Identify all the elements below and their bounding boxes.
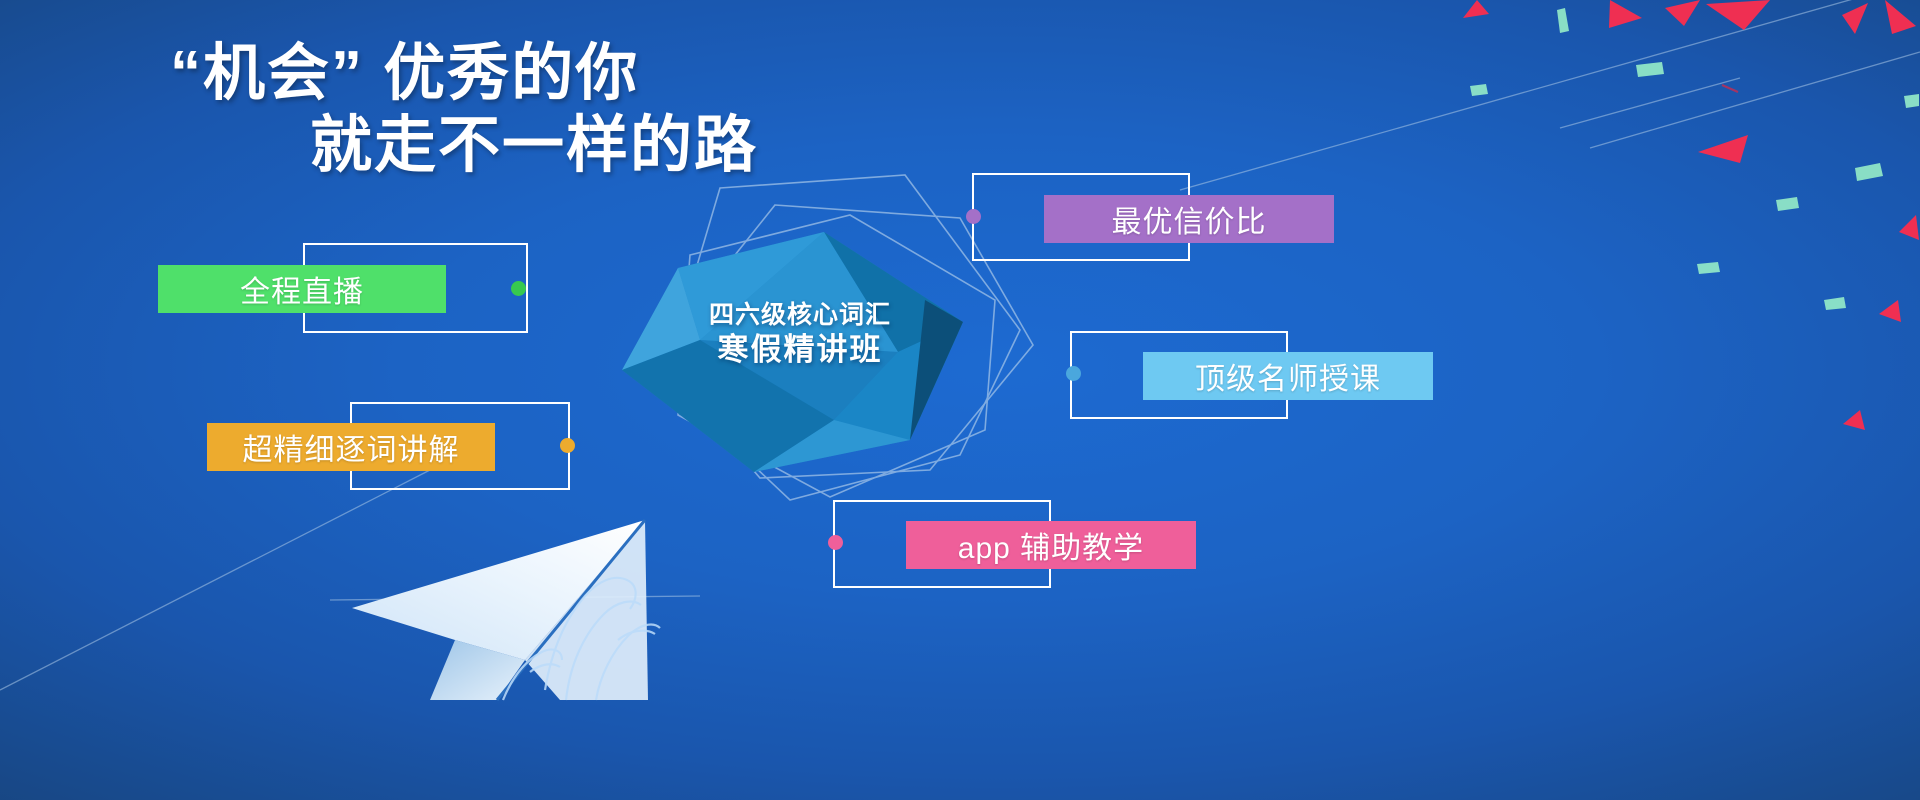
- feature-label-live[interactable]: 全程直播: [158, 265, 446, 313]
- feature-label-teacher[interactable]: 顶级名师授课: [1143, 352, 1433, 400]
- background-decoration-layer: [0, 0, 1920, 800]
- paper-plane-icon: [352, 520, 648, 700]
- banner-canvas: “机会” 优秀的你 就走不一样的路 四六级核心词汇 寒假精讲班 全程直播 超精细…: [0, 0, 1920, 800]
- feature-label-detail[interactable]: 超精细逐词讲解: [207, 423, 495, 471]
- headline-line-1: “机会” 优秀的你: [170, 38, 639, 110]
- callout-dot: [966, 209, 981, 224]
- callout-dot: [511, 281, 526, 296]
- streak-line-dark-icon: [1722, 85, 1738, 92]
- callout-dot: [560, 438, 575, 453]
- confetti-mint-chips-icon: [1470, 8, 1919, 310]
- feature-label-app[interactable]: app 辅助教学: [906, 521, 1196, 569]
- course-badge: 四六级核心词汇 寒假精讲班: [640, 300, 960, 370]
- headline-line-2: 就走不一样的路: [310, 110, 758, 182]
- callout-dot: [828, 535, 843, 550]
- course-title: 寒假精讲班: [640, 331, 960, 370]
- confetti-red-triangles-icon: [1463, 0, 1919, 430]
- callout-dot: [1066, 366, 1081, 381]
- hand-outline-icon: [503, 578, 660, 700]
- course-subtitle: 四六级核心词汇: [640, 300, 960, 331]
- feature-label-price[interactable]: 最优信价比: [1044, 195, 1334, 243]
